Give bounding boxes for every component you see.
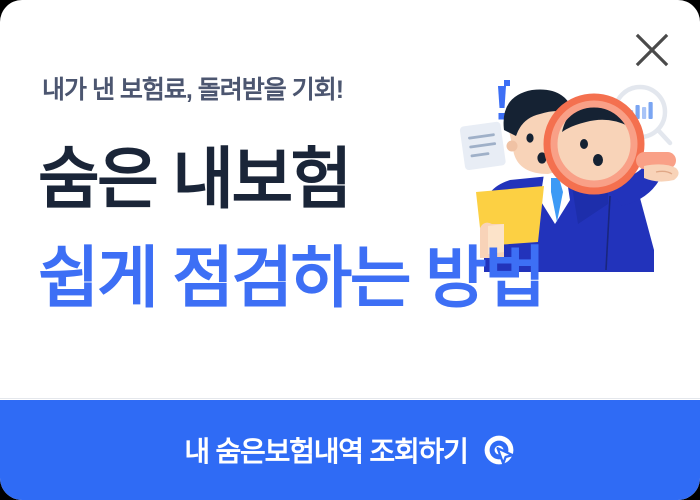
banner-headline-line1: 숨은 내보험	[38, 146, 350, 213]
square-accent-icon	[504, 80, 510, 86]
banner-headline-line2: 쉽게 점검하는 방법	[38, 245, 543, 312]
banner-subtitle: 내가 낸 보험료, 돌려받을 기회!	[42, 70, 343, 106]
divider	[0, 398, 700, 399]
close-button[interactable]	[630, 28, 674, 72]
close-icon	[630, 28, 674, 72]
cta-label: 내 숨은보험내역 조회하기	[184, 430, 467, 470]
document-card-icon	[459, 121, 506, 170]
cta-button[interactable]: 내 숨은보험내역 조회하기	[0, 400, 700, 500]
promo-banner-card: 내가 낸 보험료, 돌려받을 기회! 숨은 내보험 쉽게 점검하는 방법 내 숨…	[0, 0, 700, 500]
click-target-icon	[482, 433, 516, 467]
